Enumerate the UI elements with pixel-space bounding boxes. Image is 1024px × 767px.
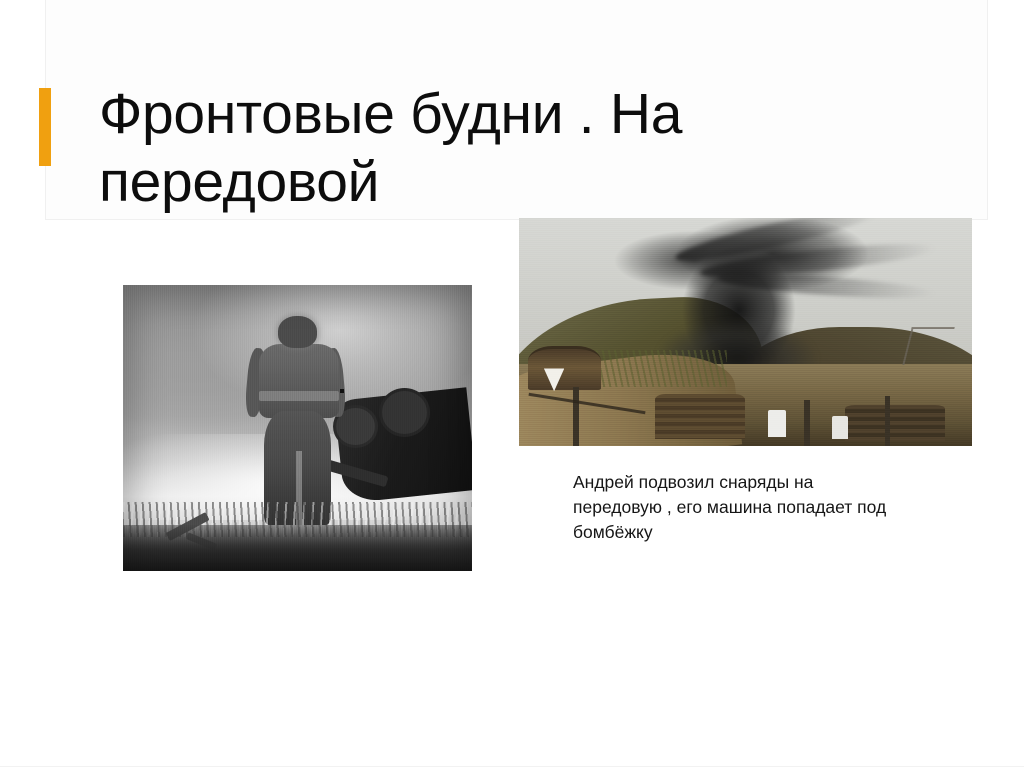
explosion-photo [519,218,972,446]
soldier-photo-vignette [123,285,472,571]
title-accent-bar [39,88,51,166]
stray-period-mark [340,389,344,393]
slide-title: Фронтовые будни . На передовой [99,80,959,216]
slide-canvas: Фронтовые будни . На передовой [0,0,1024,767]
explosion-photo-grain [519,218,972,446]
explosion-photo-caption: Андрей подвозил снаряды на передовую , е… [573,470,903,545]
soldier-photo [123,285,472,571]
